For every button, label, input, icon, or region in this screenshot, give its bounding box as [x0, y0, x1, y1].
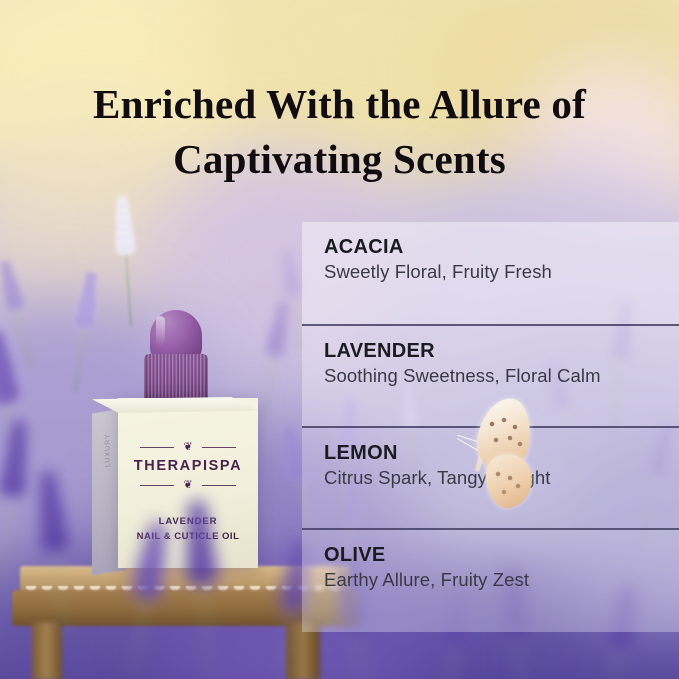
scent-name: LAVENDER [324, 340, 679, 362]
lavender-floret [38, 529, 70, 554]
lavender-stem [291, 288, 302, 350]
scent-description: Earthy Allure, Fruity Zest [324, 569, 679, 591]
box-top-face [92, 397, 258, 413]
scent-description: Soothing Sweetness, Floral Calm [324, 365, 679, 387]
lavender-floret [185, 561, 219, 587]
box-side-text: LUXURY [105, 441, 112, 468]
lavender-floret [284, 283, 302, 297]
lavender-stem [74, 318, 86, 392]
brand-name: THERAPISPA [118, 458, 258, 474]
butterfly-icon [452, 398, 548, 516]
page-title: Enriched With the Allure of Captivating … [0, 77, 679, 186]
lavender-floret [116, 240, 136, 255]
lavender-stem [262, 347, 277, 421]
butterfly-wing-spots [484, 414, 530, 504]
headline-line-1: Enriched With the Allure of [93, 81, 586, 127]
lavender-floret [0, 382, 20, 406]
scent-description: Sweetly Floral, Fruity Fresh [324, 261, 679, 283]
scent-card-olive[interactable]: OLIVE Earthy Allure, Fruity Zest [302, 528, 679, 632]
dropper-cap [142, 310, 210, 406]
ornament-rule-right [202, 447, 236, 448]
ornament-flourish: ❦ [178, 442, 198, 453]
ornament-rule-right [202, 485, 236, 486]
ornament-rule-left [140, 447, 174, 448]
product-box: LUXURY ❦ THERAPISPA ❦ LAVENDER NAIL & CU… [92, 398, 258, 570]
ornament-rule-left [140, 485, 174, 486]
promo-image: LUXURY ❦ THERAPISPA ❦ LAVENDER NAIL & CU… [0, 0, 679, 679]
product-bottle: LUXURY ❦ THERAPISPA ❦ LAVENDER NAIL & CU… [92, 310, 258, 570]
scent-card-acacia[interactable]: ACACIA Sweetly Floral, Fruity Fresh [302, 222, 679, 324]
ornament-divider-top: ❦ [118, 442, 258, 454]
ornament-divider-bottom: ❦ [118, 480, 258, 492]
cap-highlight [156, 316, 165, 346]
scent-name: OLIVE [324, 544, 679, 566]
lavender-stem [14, 302, 32, 369]
ornament-flourish: ❦ [178, 480, 198, 491]
headline-line-2: Captivating Scents [0, 132, 679, 187]
scent-name: ACACIA [324, 236, 679, 258]
